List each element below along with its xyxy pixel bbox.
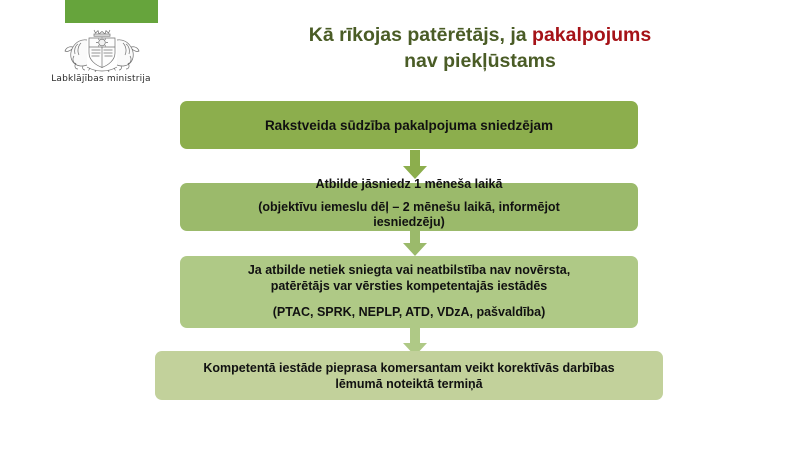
title-accent-word: pakalpojums [532,24,651,46]
flow-step-3-line-2: patērētājs var vērsties kompetentajās ie… [271,279,548,293]
down-arrow-icon-2 [402,227,428,257]
flow-step-2: Atbilde jāsniedz 1 mēneša laikā (objektī… [180,183,638,231]
flow-step-3-line-3: (PTAC, SPRK, NEPLP, ATD, VDzA, pašvaldīb… [273,305,546,319]
flow-step-1-line-1: Rakstveida sūdzība pakalpojuma sniedzēja… [265,118,553,133]
flow-step-2-line-1: Atbilde jāsniedz 1 mēneša laikā [316,177,503,191]
flow-step-4-line-1: Kompetentā iestāde pieprasa komersantam … [203,361,614,375]
flow-step-4-line-2: lēmumā noteiktā termiņā [335,377,482,391]
flow-step-2-line-2: (objektīvu iemeslu dēļ – 2 mēnešu laikā,… [258,200,559,214]
latvian-coat-of-arms-icon [54,26,150,72]
ministry-name-label: Labklājības ministrija [36,74,166,84]
flow-step-1: Rakstveida sūdzība pakalpojuma sniedzēja… [180,101,638,149]
flow-step-3-line-1: Ja atbilde netiek sniegta vai neatbilstī… [248,263,570,277]
flow-step-3: Ja atbilde netiek sniegta vai neatbilstī… [180,256,638,328]
flow-step-4: Kompetentā iestāde pieprasa komersantam … [155,351,663,400]
down-arrow-icon-1 [402,150,428,180]
title-line-2: nav piekļūstams [404,50,556,72]
logo-green-bar [65,0,158,23]
title-part-1: Kā rīkojas patērētājs, ja [309,24,532,46]
ministry-logo: Labklājības ministrija [36,0,166,92]
page-title: Kā rīkojas patērētājs, ja pakalpojums na… [200,22,760,74]
